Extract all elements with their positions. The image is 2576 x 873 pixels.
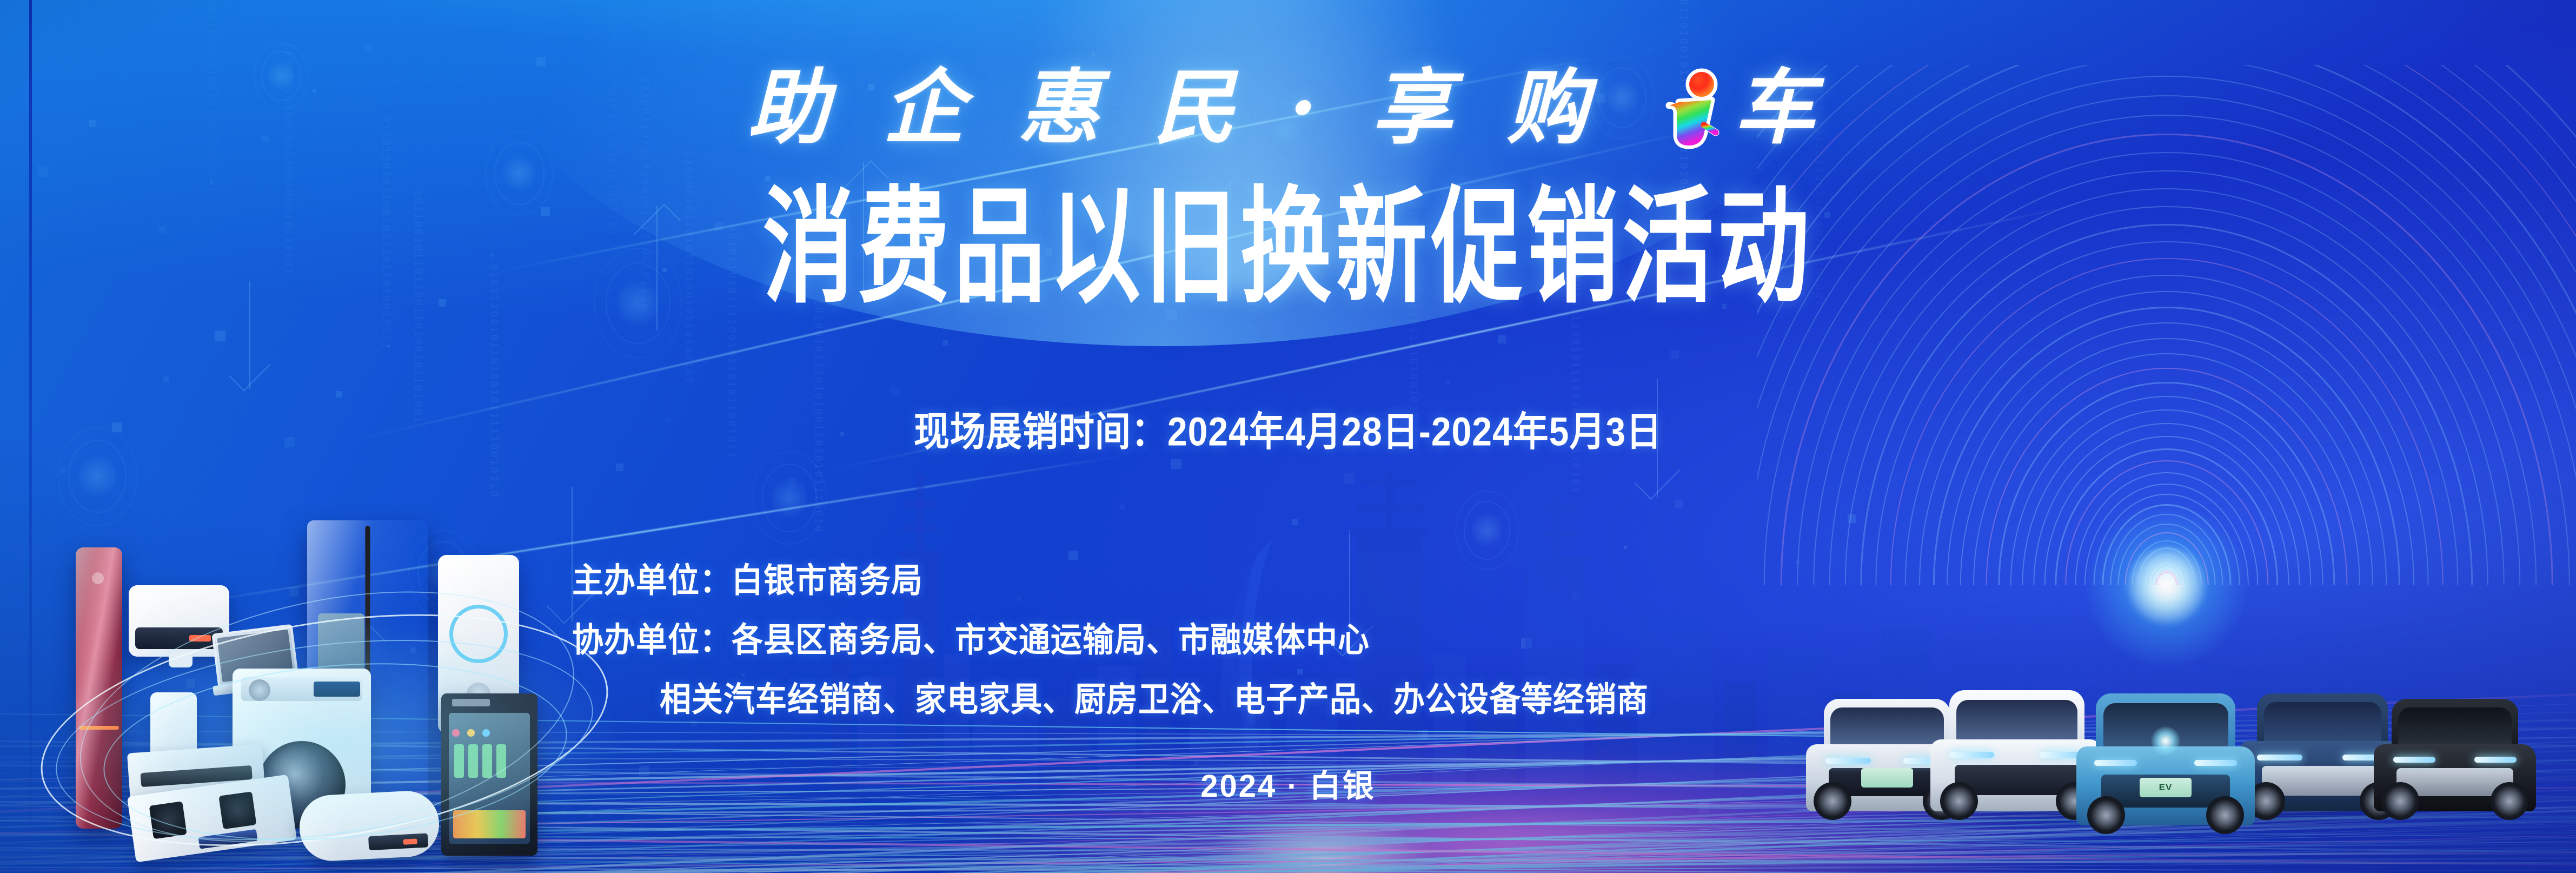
license-plate: EV (2140, 778, 2192, 797)
event-date: 现场展销时间：2024年4月28日-2024年5月3日 (0, 402, 2576, 454)
organizer-block: 主办单位：白银市商务局 协办单位：各县区商务局、市交通运输局、市融媒体中心 相关… (572, 553, 1978, 731)
organizer-line: 主办单位：白银市商务局 (572, 553, 1978, 602)
coorganizer-line: 协办单位：各县区商务局、市交通运输局、市融媒体中心 (572, 612, 1978, 662)
headline-line1-lead: 助 企 惠 民 · 享 购 (748, 60, 1642, 155)
headline-line1-tail: 车 (1734, 60, 1828, 155)
dealers-line: 相关汽车经销商、家电家具、厨房卫浴、电子产品、办公设备等经销商 (660, 672, 1978, 721)
qi-rainbow-icon (1648, 67, 1729, 153)
vehicle-ev-hatchback-blue: EV (2076, 698, 2255, 825)
headline-line-1: 助 企 惠 民 · 享 购 (0, 42, 2576, 160)
headline-line-2: 消费品以旧换新促销活动 (0, 145, 2576, 283)
promo-banner: 0101001101101100101111010010111100101110… (0, 0, 2576, 873)
